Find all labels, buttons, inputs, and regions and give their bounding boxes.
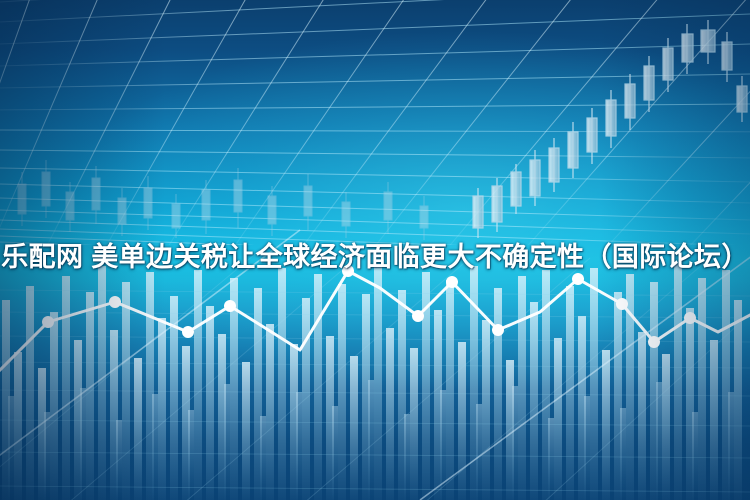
headline-text: 乐配网 美单边关税让全球经济面临更大不确定性（国际论坛） bbox=[0, 232, 750, 276]
stock-market-banner: 乐配网 美单边关税让全球经济面临更大不确定性（国际论坛） bbox=[0, 0, 750, 500]
